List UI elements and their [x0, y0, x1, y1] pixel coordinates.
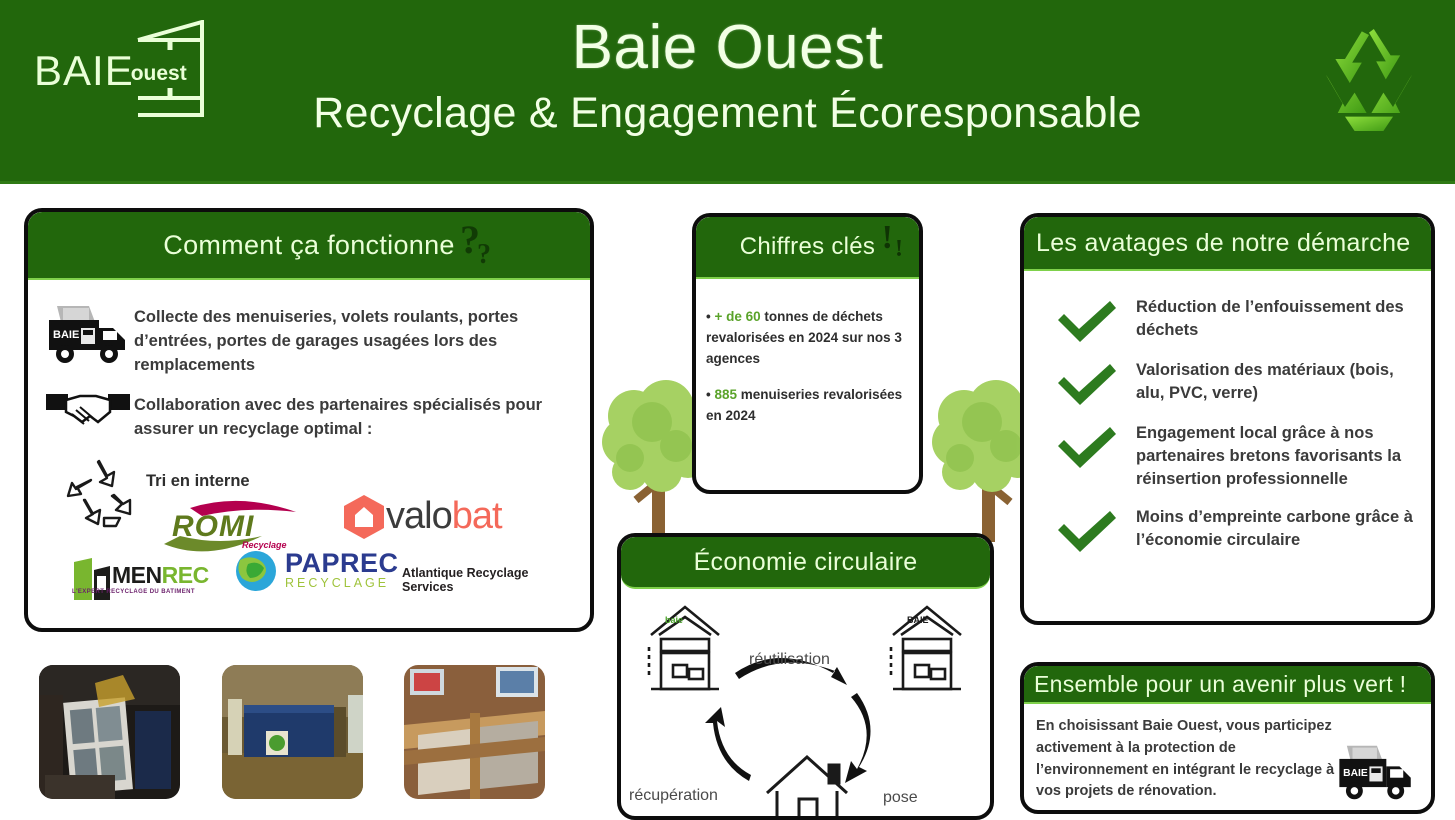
partner-logo-paprec: PAPREC RECYCLAGE	[234, 548, 399, 594]
photo-skip-container	[222, 665, 363, 799]
partner-romi-name: ROMI	[172, 510, 254, 544]
paprec-text: PAPREC RECYCLAGE	[285, 551, 399, 591]
advantage-item: Valorisation des matériaux (bois, alu, P…	[1038, 357, 1417, 407]
advantage-item: Moins d’empreinte carbone grâce à l’écon…	[1038, 504, 1417, 554]
together-card: Ensemble pour un avenir plus vert ! En c…	[1020, 662, 1435, 814]
key-figures-title: Chiffres clés	[740, 233, 876, 261]
how-it-works-item: BAIE Collecte des menuiseries, volets ro…	[42, 298, 576, 378]
circular-economy-diagram: baie BAIE	[621, 589, 990, 820]
photo-wooden-crates	[404, 665, 545, 799]
check-icon	[1038, 420, 1136, 470]
check-icon	[1038, 357, 1136, 407]
partner-menrec-name: MENREC	[112, 562, 209, 589]
photo-windows	[39, 665, 180, 799]
advantages-card: Les avatages de notre démarche Réduction…	[1020, 213, 1435, 625]
exclamation-icon: !!	[882, 219, 905, 257]
header-titles: Baie Ouest Recyclage & Engagement Écores…	[0, 0, 1455, 138]
valobat-hex-icon	[342, 494, 386, 540]
label-recuperation: récupération	[629, 787, 718, 805]
label-pose: pose	[883, 789, 918, 807]
advantages-body: Réduction de l’enfouissement des déchets…	[1024, 271, 1431, 564]
together-title: Ensemble pour un avenir plus vert !	[1034, 671, 1406, 698]
key-figures-list: • + de 60 tonnes de déchets revalorisées…	[696, 279, 919, 427]
partner-paprec-name: PAPREC	[285, 551, 399, 577]
partner-logo-menrec: MENREC L'EXPERT RECYCLAGE DU BATIMENT	[70, 552, 230, 606]
partners-section: Tri en interne ROMI Recyclage valobat	[42, 448, 576, 608]
key-figure-highlight: 885	[714, 387, 737, 402]
menrec-building-icon	[70, 556, 114, 602]
how-it-works-card: Comment ça fonctionne ?? BAIE Collect	[24, 208, 594, 632]
advantages-title: Les avatages de notre démarche	[1036, 229, 1411, 258]
advantage-item: Engagement local grâce à nos partenaires…	[1038, 420, 1417, 491]
svg-text:BAIE: BAIE	[907, 615, 929, 625]
together-text: En choisissant Baie Ouest, vous particip…	[1024, 704, 1354, 803]
paprec-globe-icon	[234, 548, 278, 594]
page-header: BAIE ouest Baie Ouest Recyclage & Engage…	[0, 0, 1455, 184]
key-figure-item: • + de 60 tonnes de déchets revalorisées…	[706, 307, 907, 370]
advantage-text: Moins d’empreinte carbone grâce à l’écon…	[1136, 504, 1417, 552]
svg-text:BAIE: BAIE	[53, 329, 79, 341]
key-figure-highlight: + de 60	[714, 309, 760, 324]
page-subtitle: Recyclage & Engagement Écoresponsable	[0, 89, 1455, 138]
advantage-text: Engagement local grâce à nos partenaires…	[1136, 420, 1417, 491]
partner-menrec-tagline: L'EXPERT RECYCLAGE DU BATIMENT	[72, 589, 195, 595]
how-it-works-body: BAIE Collecte des menuiseries, volets ro…	[28, 280, 590, 618]
how-it-works-item: Collaboration avec des partenaires spéci…	[42, 386, 576, 442]
advantage-text: Valorisation des matériaux (bois, alu, P…	[1136, 357, 1417, 405]
handshake-icon	[42, 386, 134, 436]
advantages-header: Les avatages de notre démarche	[1024, 217, 1431, 271]
partner-valobat-name: valobat	[386, 495, 502, 538]
partner-logo-ars: Atlantique Recyclage Services	[402, 566, 576, 594]
partner-paprec-tagline: RECYCLAGE	[285, 576, 399, 590]
internal-sorting-label: Tri en interne	[146, 472, 250, 491]
partner-logo-valobat: valobat	[342, 494, 502, 540]
label-reutilisation: réutilisation	[749, 651, 830, 669]
key-figures-header: Chiffres clés !!	[696, 217, 919, 279]
svg-text:baie: baie	[665, 615, 683, 625]
key-figures-card: Chiffres clés !! • + de 60 tonnes de déc…	[692, 213, 923, 494]
key-figure-item: • 885 menuiseries revalorisées en 2024	[706, 385, 907, 427]
circular-economy-card: Économie circulaire baie	[617, 533, 994, 820]
recycle-outline-icon	[60, 456, 136, 528]
advantage-item: Réduction de l’enfouissement des déchets	[1038, 294, 1417, 344]
recycle-icon	[1309, 23, 1429, 143]
how-it-works-header: Comment ça fonctionne ??	[28, 212, 590, 280]
how-it-works-item-text: Collaboration avec des partenaires spéci…	[134, 386, 576, 442]
how-it-works-item-text: Collecte des menuiseries, volets roulant…	[134, 298, 576, 378]
question-mark-icon: ??	[460, 216, 494, 263]
page-title: Baie Ouest	[0, 12, 1455, 83]
check-icon	[1038, 294, 1136, 344]
circular-economy-title: Économie circulaire	[694, 548, 918, 577]
together-header: Ensemble pour un avenir plus vert !	[1024, 666, 1431, 704]
truck-icon: BAIE	[42, 298, 134, 368]
advantage-text: Réduction de l’enfouissement des déchets	[1136, 294, 1417, 342]
how-it-works-title: Comment ça fonctionne	[163, 230, 454, 261]
circular-economy-header: Économie circulaire	[621, 537, 990, 589]
check-icon	[1038, 504, 1136, 554]
